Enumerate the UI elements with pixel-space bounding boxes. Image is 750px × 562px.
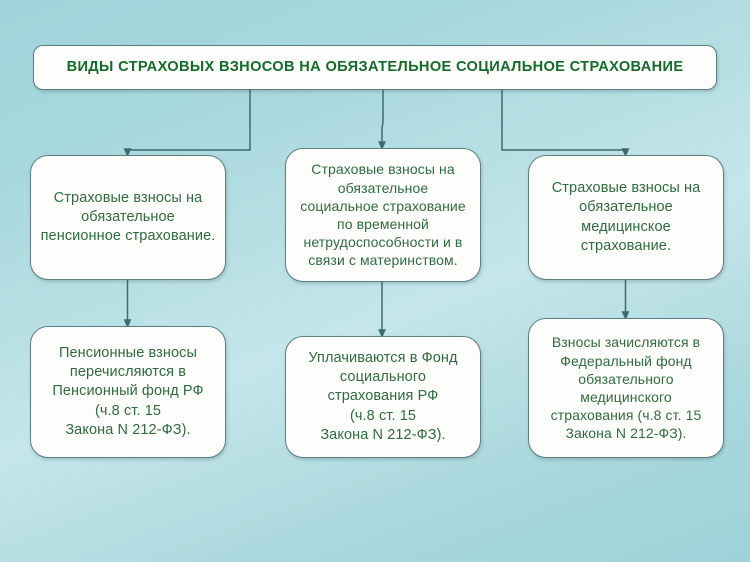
node-pension-fund-destination: Пенсионные взносы перечисляются в Пенсио…: [30, 326, 226, 458]
node-federal-medical-fund-destination: Взносы зачисляются в Федеральный фонд об…: [528, 318, 724, 458]
node-label: Взносы зачисляются в Федеральный фонд об…: [529, 333, 723, 442]
diagram-canvas: ВИДЫ СТРАХОВЫХ ВЗНОСОВ НА ОБЯЗАТЕЛЬНОЕ С…: [0, 0, 750, 562]
node-label: Страховые взносы на обязательное социаль…: [286, 160, 480, 269]
node-label: Уплачиваются в Фонд социального страхова…: [286, 349, 480, 445]
node-temporary-disability-maternity-contributions: Страховые взносы на обязательное социаль…: [285, 148, 481, 282]
node-label: Страховые взносы на обязательное медицин…: [529, 179, 723, 256]
edge-title-to-mid-center: [382, 90, 383, 146]
node-medical-insurance-contributions: Страховые взносы на обязательное медицин…: [528, 155, 724, 280]
edge-title-to-mid-left: [128, 90, 251, 153]
node-label: Страховые взносы на обязательное пенсион…: [31, 189, 225, 246]
node-social-insurance-fund-destination: Уплачиваются в Фонд социального страхова…: [285, 336, 481, 458]
node-label: Пенсионные взносы перечисляются в Пенсио…: [31, 344, 225, 440]
diagram-title-box: ВИДЫ СТРАХОВЫХ ВЗНОСОВ НА ОБЯЗАТЕЛЬНОЕ С…: [33, 45, 717, 90]
node-pension-insurance-contributions: Страховые взносы на обязательное пенсион…: [30, 155, 226, 280]
edge-title-to-mid-right: [502, 90, 626, 153]
page-title: ВИДЫ СТРАХОВЫХ ВЗНОСОВ НА ОБЯЗАТЕЛЬНОЕ С…: [34, 58, 716, 77]
